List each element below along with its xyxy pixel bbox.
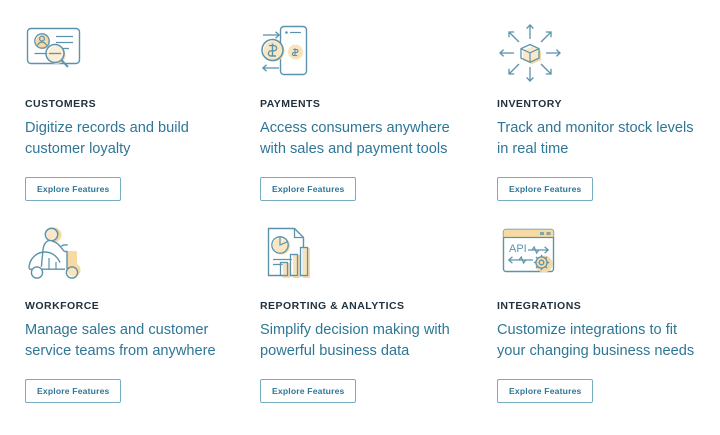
feature-card-workforce: WORKFORCE Manage sales and customer serv… bbox=[25, 224, 237, 403]
feature-card-inventory: INVENTORY Track and monitor stock levels… bbox=[497, 22, 709, 201]
feature-card-integrations: API bbox=[497, 224, 709, 403]
inventory-box-distribution-icon bbox=[497, 22, 709, 84]
card-heading: REPORTING & ANALYTICS bbox=[260, 300, 472, 313]
customer-record-card-icon bbox=[25, 22, 237, 84]
explore-features-button[interactable]: Explore Features bbox=[260, 379, 356, 404]
card-heading: WORKFORCE bbox=[25, 300, 237, 313]
report-charts-document-icon bbox=[260, 224, 472, 286]
mobile-payment-icon bbox=[260, 22, 472, 84]
explore-features-button[interactable]: Explore Features bbox=[497, 177, 593, 202]
explore-features-button[interactable]: Explore Features bbox=[260, 177, 356, 202]
card-description: Track and monitor stock levels in real t… bbox=[497, 118, 702, 160]
explore-features-button[interactable]: Explore Features bbox=[25, 379, 121, 404]
card-description: Access consumers anywhere with sales and… bbox=[260, 118, 465, 160]
card-heading: PAYMENTS bbox=[260, 98, 472, 111]
card-description: Simplify decision making with powerful b… bbox=[260, 320, 465, 362]
explore-features-button[interactable]: Explore Features bbox=[497, 379, 593, 404]
feature-card-payments: PAYMENTS Access consumers anywhere with … bbox=[260, 22, 472, 201]
card-heading: CUSTOMERS bbox=[25, 98, 237, 111]
svg-text:API: API bbox=[509, 243, 527, 255]
explore-features-button[interactable]: Explore Features bbox=[25, 177, 121, 202]
delivery-scooter-worker-icon bbox=[25, 224, 237, 286]
card-heading: INTEGRATIONS bbox=[497, 300, 709, 313]
feature-grid: CUSTOMERS Digitize records and build cus… bbox=[0, 0, 720, 435]
feature-card-reporting-analytics: REPORTING & ANALYTICS Simplify decision … bbox=[260, 224, 472, 403]
card-heading: INVENTORY bbox=[497, 98, 709, 111]
api-browser-gear-icon: API bbox=[497, 224, 709, 286]
card-description: Customize integrations to fit your chang… bbox=[497, 320, 702, 362]
card-description: Digitize records and build customer loya… bbox=[25, 118, 230, 160]
feature-card-customers: CUSTOMERS Digitize records and build cus… bbox=[25, 22, 237, 201]
card-description: Manage sales and customer service teams … bbox=[25, 320, 230, 362]
